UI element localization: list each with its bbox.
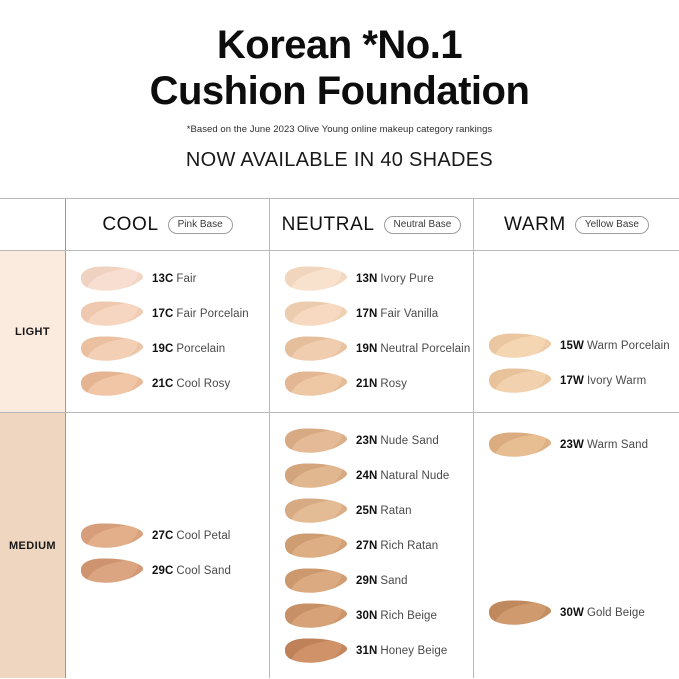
shade-swatch-icon	[282, 265, 350, 292]
column-badge: Yellow Base	[575, 216, 649, 234]
title-line-1: Korean *No.1	[0, 22, 679, 68]
shade-item: 31NHoney Beige	[282, 633, 473, 668]
shade-label: 17NFair Vanilla	[356, 308, 438, 320]
shade-code: 17N	[356, 308, 377, 320]
shade-name: Cool Sand	[176, 565, 231, 577]
cell-light-cool: 13CFair17CFair Porcelain19CPorcelain21CC…	[66, 251, 270, 412]
shade-label: 21CCool Rosy	[152, 378, 230, 390]
row-label-light: LIGHT	[0, 251, 66, 412]
shade-swatch-icon	[282, 497, 350, 524]
shade-code: 19N	[356, 343, 377, 355]
row-label-text: MEDIUM	[9, 540, 56, 552]
shade-code: 30W	[560, 607, 584, 619]
shade-item: 19CPorcelain	[78, 331, 269, 366]
shade-label: 23WWarm Sand	[560, 439, 648, 451]
shade-swatch-icon	[282, 637, 350, 664]
cell-medium-warm: 23WWarm Sand30WGold Beige	[474, 413, 679, 678]
cell-light-warm: 15WWarm Porcelain17WIvory Warm	[474, 251, 679, 412]
shade-code: 31N	[356, 645, 377, 657]
shade-label: 21NRosy	[356, 378, 407, 390]
shade-swatch-icon	[78, 265, 146, 292]
shade-code: 23N	[356, 435, 377, 447]
shade-item: 29CCool Sand	[78, 553, 269, 588]
shade-list: 13NIvory Pure17NFair Vanilla19NNeutral P…	[270, 251, 473, 401]
shade-label: 17WIvory Warm	[560, 375, 646, 387]
shade-swatch-icon	[282, 335, 350, 362]
shade-code: 21C	[152, 378, 173, 390]
shade-item: 13CFair	[78, 261, 269, 296]
shade-name: Rosy	[380, 378, 407, 390]
shade-label: 31NHoney Beige	[356, 645, 447, 657]
shade-code: 27N	[356, 540, 377, 552]
shade-item: 19NNeutral Porcelain	[282, 331, 473, 366]
shade-item: 17NFair Vanilla	[282, 296, 473, 331]
column-header-warm: WARM Yellow Base	[474, 199, 679, 250]
shade-swatch-icon	[78, 300, 146, 327]
shade-name: Nude Sand	[380, 435, 438, 447]
shade-code: 30N	[356, 610, 377, 622]
shade-swatch-icon	[282, 602, 350, 629]
shade-swatch-icon	[486, 599, 554, 626]
shade-code: 24N	[356, 470, 377, 482]
shade-item: 21CCool Rosy	[78, 366, 269, 401]
shade-name: Fair Porcelain	[176, 308, 248, 320]
shade-name: Natural Nude	[380, 470, 449, 482]
shade-label: 24NNatural Nude	[356, 470, 449, 482]
shade-label: 19NNeutral Porcelain	[356, 343, 470, 355]
shade-label: 13NIvory Pure	[356, 273, 434, 285]
subtitle: NOW AVAILABLE IN 40 SHADES	[0, 149, 679, 172]
shade-label: 30WGold Beige	[560, 607, 645, 619]
shade-swatch-icon	[282, 427, 350, 454]
shade-name: Fair Vanilla	[380, 308, 438, 320]
shade-swatch-icon	[78, 335, 146, 362]
shade-item: 13NIvory Pure	[282, 261, 473, 296]
shade-list: 27CCool Petal29CCool Sand	[66, 413, 269, 588]
shade-item: 30NRich Beige	[282, 598, 473, 633]
cell-light-neutral: 13NIvory Pure17NFair Vanilla19NNeutral P…	[270, 251, 474, 412]
cell-medium-cool: 27CCool Petal29CCool Sand	[66, 413, 270, 678]
shade-chart-page: Korean *No.1 Cushion Foundation *Based o…	[0, 0, 679, 679]
shade-label: 17CFair Porcelain	[152, 308, 249, 320]
shade-code: 17W	[560, 375, 584, 387]
shade-label: 27CCool Petal	[152, 530, 230, 542]
shade-name: Cool Petal	[176, 530, 230, 542]
title-line-2: Cushion Foundation	[0, 68, 679, 114]
shade-item: 29NSand	[282, 563, 473, 598]
shade-label: 25NRatan	[356, 505, 412, 517]
shade-name: Gold Beige	[587, 607, 645, 619]
shade-code: 21N	[356, 378, 377, 390]
shade-label: 23NNude Sand	[356, 435, 439, 447]
shade-table: COOL Pink Base NEUTRAL Neutral Base WARM…	[0, 198, 679, 679]
shade-swatch-icon	[282, 370, 350, 397]
shade-code: 23W	[560, 439, 584, 451]
column-title: NEUTRAL	[282, 214, 375, 236]
shade-list: 13CFair17CFair Porcelain19CPorcelain21CC…	[66, 251, 269, 401]
column-badge: Neutral Base	[384, 216, 462, 234]
shade-label: 13CFair	[152, 273, 197, 285]
shade-swatch-icon	[78, 370, 146, 397]
shade-swatch-icon	[486, 332, 554, 359]
shade-swatch-icon	[282, 532, 350, 559]
column-title: WARM	[504, 214, 566, 236]
shade-code: 13C	[152, 273, 173, 285]
footnote: *Based on the June 2023 Olive Young onli…	[0, 124, 679, 135]
shade-code: 29N	[356, 575, 377, 587]
shade-swatch-icon	[282, 462, 350, 489]
page-title: Korean *No.1 Cushion Foundation	[0, 22, 679, 115]
shade-code: 29C	[152, 565, 173, 577]
shade-label: 15WWarm Porcelain	[560, 340, 670, 352]
shade-code: 27C	[152, 530, 173, 542]
cell-medium-neutral: 23NNude Sand24NNatural Nude25NRatan27NRi…	[270, 413, 474, 678]
shade-name: Rich Ratan	[380, 540, 438, 552]
shade-item: 21NRosy	[282, 366, 473, 401]
shade-swatch-icon	[282, 300, 350, 327]
column-header-cool: COOL Pink Base	[66, 199, 270, 250]
shade-item: 23WWarm Sand	[486, 427, 679, 462]
shade-name: Cool Rosy	[176, 378, 230, 390]
shade-item: 30WGold Beige	[486, 595, 679, 630]
shade-code: 25N	[356, 505, 377, 517]
shade-item: 15WWarm Porcelain	[486, 328, 679, 363]
shade-swatch-icon	[78, 557, 146, 584]
shade-name: Ivory Pure	[380, 273, 433, 285]
shade-name: Sand	[380, 575, 407, 587]
shade-label: 29NSand	[356, 575, 408, 587]
shade-name: Rich Beige	[380, 610, 437, 622]
shade-name: Warm Sand	[587, 439, 648, 451]
shade-item: 27CCool Petal	[78, 518, 269, 553]
shade-label: 30NRich Beige	[356, 610, 437, 622]
shade-swatch-icon	[78, 522, 146, 549]
column-badge: Pink Base	[168, 216, 233, 234]
shade-code: 15W	[560, 340, 584, 352]
shade-code: 19C	[152, 343, 173, 355]
shade-item: 25NRatan	[282, 493, 473, 528]
shade-item: 23NNude Sand	[282, 423, 473, 458]
row-label-text: LIGHT	[15, 326, 50, 338]
table-row-medium: MEDIUM 27CCool Petal29CCool Sand 23NNude…	[0, 413, 679, 678]
shade-item: 17WIvory Warm	[486, 363, 679, 398]
shade-name: Porcelain	[176, 343, 225, 355]
column-title: COOL	[102, 214, 158, 236]
shade-swatch-icon	[486, 431, 554, 458]
shade-item: 17CFair Porcelain	[78, 296, 269, 331]
shade-name: Ivory Warm	[587, 375, 646, 387]
shade-label: 27NRich Ratan	[356, 540, 438, 552]
shade-list: 23NNude Sand24NNatural Nude25NRatan27NRi…	[270, 413, 473, 668]
shade-list: 15WWarm Porcelain17WIvory Warm	[474, 251, 679, 398]
shade-code: 17C	[152, 308, 173, 320]
shade-label: 29CCool Sand	[152, 565, 231, 577]
shade-label: 19CPorcelain	[152, 343, 225, 355]
table-header-row: COOL Pink Base NEUTRAL Neutral Base WARM…	[0, 199, 679, 251]
shade-list: 23WWarm Sand30WGold Beige	[474, 413, 679, 630]
row-label-medium: MEDIUM	[0, 413, 66, 678]
shade-name: Warm Porcelain	[587, 340, 670, 352]
shade-name: Fair	[176, 273, 196, 285]
header-corner-cell	[0, 199, 66, 250]
table-row-light: LIGHT 13CFair17CFair Porcelain19CPorcela…	[0, 251, 679, 413]
column-header-neutral: NEUTRAL Neutral Base	[270, 199, 474, 250]
shade-item: 27NRich Ratan	[282, 528, 473, 563]
shade-swatch-icon	[486, 367, 554, 394]
hero-section: Korean *No.1 Cushion Foundation *Based o…	[0, 0, 679, 172]
shade-name: Ratan	[380, 505, 411, 517]
shade-name: Honey Beige	[380, 645, 447, 657]
shade-name: Neutral Porcelain	[380, 343, 470, 355]
shade-item: 24NNatural Nude	[282, 458, 473, 493]
shade-code: 13N	[356, 273, 377, 285]
shade-swatch-icon	[282, 567, 350, 594]
